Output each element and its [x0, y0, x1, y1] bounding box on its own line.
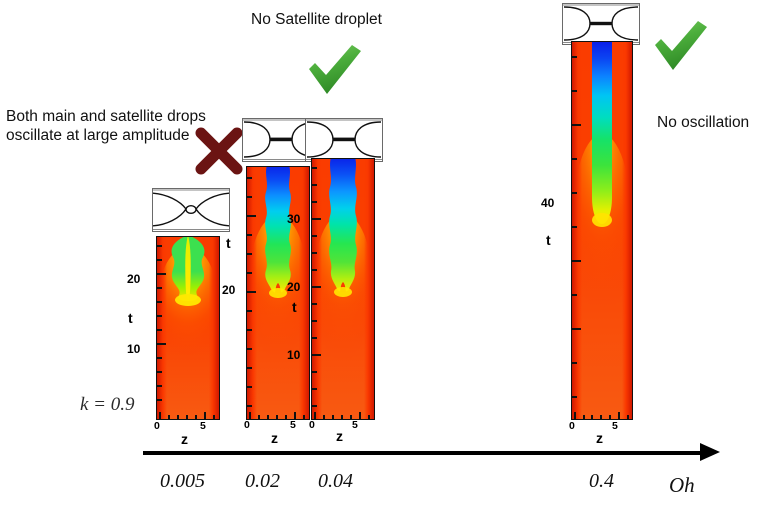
panel1-ylabel: t [128, 310, 133, 326]
panel4-y-ticks [572, 42, 581, 419]
panel2-xlabel: z [271, 430, 278, 446]
panel4-xtick-0: 0 [569, 420, 575, 432]
oh-tick-0005: 0.005 [160, 470, 205, 493]
oh-tick-04: 0.4 [589, 470, 614, 493]
panel4-ytick-40: 40 [541, 196, 554, 210]
panel3-y-ticks [312, 159, 321, 419]
panel1-xtick-0: 0 [154, 420, 160, 432]
panel3-xlabel: z [336, 428, 343, 444]
panel3-ytick-20: 20 [287, 280, 300, 294]
oh-axis-arrowhead [700, 443, 720, 461]
panel3-ytick-30: 30 [287, 212, 300, 226]
inset-two-drops-thin-thread-b [305, 118, 383, 162]
parameter-k-label: k = 0.9 [80, 394, 135, 416]
panel3-ytick-10: 10 [287, 348, 300, 362]
panel4-xlabel: z [596, 430, 603, 446]
panel2-ylabel: t [226, 235, 231, 251]
panel2-y-ticks [247, 167, 256, 419]
oh-axis-line [143, 451, 703, 455]
annotation-satellite-line2: oscillate at large amplitude [6, 126, 190, 145]
panel1-xlabel: z [181, 431, 188, 447]
panel3-xtick-5: 5 [352, 419, 358, 431]
panel4-x-ticks [572, 412, 632, 419]
annotation-no-oscillation: No oscillation [657, 113, 749, 132]
panel1-ytick-10: 10 [127, 342, 140, 356]
panel1-ytick-20: 20 [127, 272, 140, 286]
panel1-y-ticks [157, 237, 166, 419]
spacetime-panel-oh-002 [246, 166, 310, 420]
spacetime-panel-oh-0005 [156, 236, 220, 420]
spacetime-panel-oh-04 [571, 41, 633, 420]
panel3-x-ticks [312, 412, 374, 419]
panel4-xtick-5: 5 [612, 420, 618, 432]
oh-tick-004: 0.04 [318, 470, 353, 493]
panel2-xtick-0: 0 [244, 419, 250, 431]
panel2-xtick-5: 5 [290, 419, 296, 431]
panel2-ytick-20: 20 [222, 283, 235, 297]
panel1-x-ticks [157, 412, 219, 419]
annotation-satellite-line1: Both main and satellite drops [6, 107, 206, 126]
check-icon-no-oscillation [648, 18, 712, 74]
panel1-xtick-5: 5 [200, 420, 206, 432]
cross-icon [193, 125, 245, 177]
oh-tick-002: 0.02 [245, 470, 280, 493]
spacetime-panel-oh-004 [311, 158, 375, 420]
inset-two-drops-thin-thread-c [562, 3, 640, 45]
check-icon-no-satellite [302, 42, 366, 98]
oh-axis-label: Oh [669, 473, 695, 498]
panel3-ylabel: t [292, 299, 297, 315]
panel4-ylabel: t [546, 232, 551, 248]
annotation-no-satellite-droplet: No Satellite droplet [251, 10, 382, 29]
panel2-x-ticks [247, 412, 309, 419]
inset-two-drops-with-satellite [152, 188, 230, 232]
panel3-xtick-0: 0 [309, 419, 315, 431]
